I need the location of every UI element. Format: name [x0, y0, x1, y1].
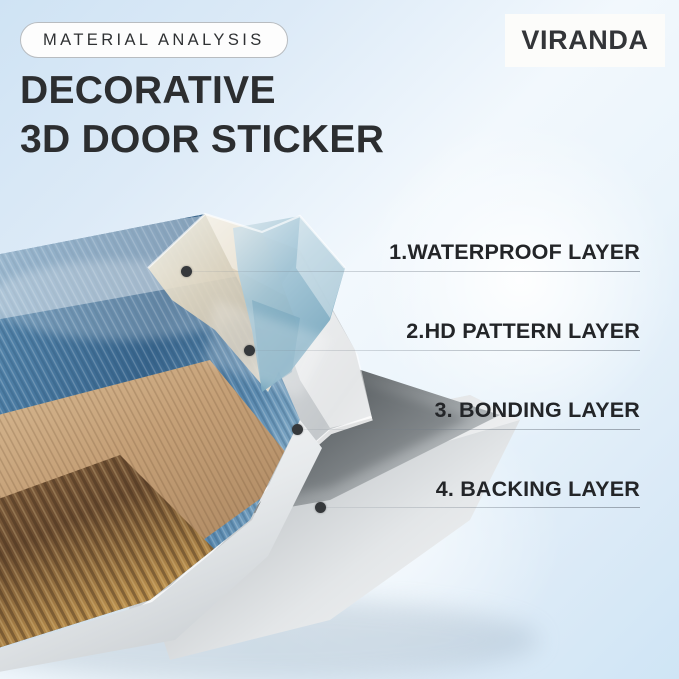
- callout-label-waterproof: 1.WATERPROOF LAYER: [389, 240, 640, 265]
- callout-rule-4: [320, 507, 640, 508]
- page-title: DECORATIVE 3D DOOR STICKER: [20, 66, 384, 164]
- callout-label-hd-pattern: 2.HD PATTERN LAYER: [406, 319, 640, 344]
- infographic-canvas: MATERIAL ANALYSIS DECORATIVE 3D DOOR STI…: [0, 0, 679, 679]
- callout-label-backing: 4. BACKING LAYER: [436, 477, 640, 502]
- badge-text: MATERIAL ANALYSIS: [43, 31, 265, 50]
- title-line-2: 3D DOOR STICKER: [20, 115, 384, 164]
- material-analysis-badge: MATERIAL ANALYSIS: [20, 22, 288, 58]
- callout-rule-2: [249, 350, 640, 351]
- callout-dot-3: [292, 424, 303, 435]
- callout-dot-1: [181, 266, 192, 277]
- callout-dot-4: [315, 502, 326, 513]
- title-line-1: DECORATIVE: [20, 66, 384, 115]
- callout-label-bonding: 3. BONDING LAYER: [435, 398, 641, 423]
- callout-rule-1: [186, 271, 640, 272]
- brand-logo: VIRANDA: [505, 14, 665, 67]
- callout-dot-2: [244, 345, 255, 356]
- callout-rule-3: [297, 429, 640, 430]
- brand-logo-text: VIRANDA: [521, 25, 648, 56]
